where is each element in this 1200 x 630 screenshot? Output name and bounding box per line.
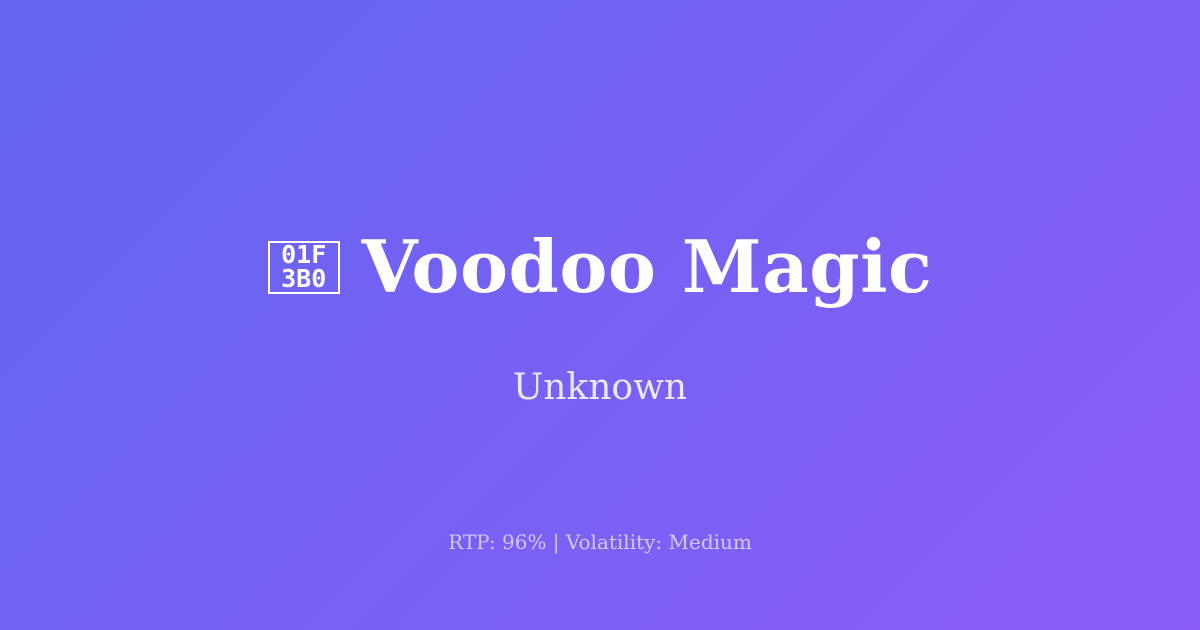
game-stats: RTP: 96% | Volatility: Medium [0, 528, 1200, 556]
game-og-card: 01F 3B0 Voodoo Magic Unknown RTP: 96% | … [0, 0, 1200, 630]
slot-machine-emoji-icon: 01F 3B0 [268, 241, 340, 294]
title-row: 01F 3B0 Voodoo Magic [0, 231, 1200, 303]
game-title: Voodoo Magic [362, 231, 933, 303]
game-subtitle: Unknown [0, 366, 1200, 410]
tofu-codepoint-bottom: 3B0 [281, 267, 326, 291]
